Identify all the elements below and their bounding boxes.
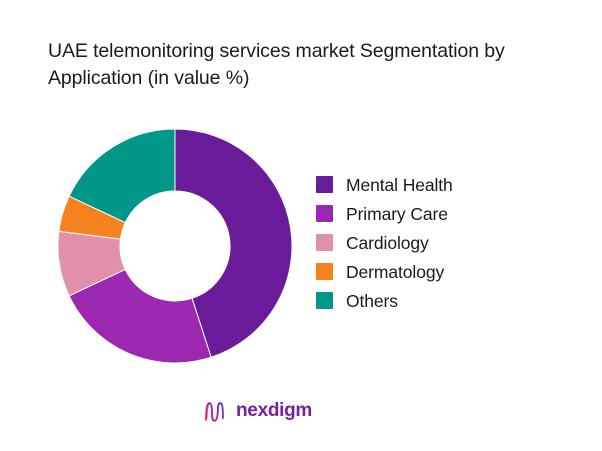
legend-color-swatch [316,263,333,280]
legend-color-swatch [316,292,333,309]
legend-item-label: Cardiology [346,233,429,253]
legend-item-label: Primary Care [346,204,448,224]
chart-page: UAE telemonitoring services market Segme… [0,0,602,451]
donut-chart-svg [45,116,305,376]
legend-item[interactable]: Primary Care [316,199,546,228]
legend-item-label: Others [346,291,398,311]
donut-chart [45,116,305,376]
brand-name: nexdigm [236,400,312,422]
chart-legend: Mental HealthPrimary CareCardiologyDerma… [316,170,546,315]
legend-item[interactable]: Dermatology [316,257,546,286]
legend-color-swatch [316,176,333,193]
donut-slice-group [58,129,292,363]
legend-item[interactable]: Others [316,286,546,315]
legend-item[interactable]: Mental Health [316,170,546,199]
legend-item[interactable]: Cardiology [316,228,546,257]
brand-logo: nexdigm [201,396,312,426]
legend-item-label: Dermatology [346,262,444,282]
legend-item-label: Mental Health [346,175,453,195]
legend-color-swatch [316,205,333,222]
legend-color-swatch [316,234,333,251]
page-title: UAE telemonitoring services market Segme… [48,38,578,92]
nexdigm-wave-n-icon [201,398,228,425]
